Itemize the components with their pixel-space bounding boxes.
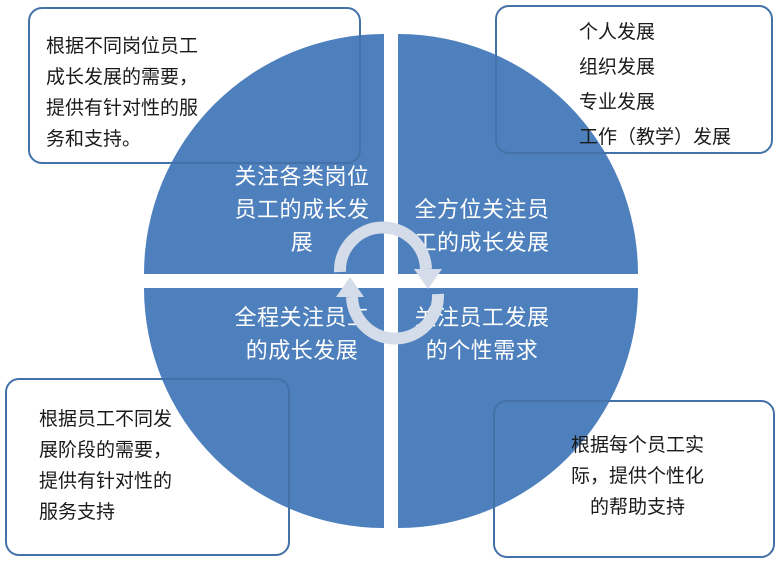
callout-bottom-left-text: 根据员工不同发 展阶段的需要， 提供有针对性的 服务支持 (39, 404, 172, 528)
callout-bottom-right[interactable]: 根据每个员工实 际，提供个性化 的帮助支持 (493, 400, 775, 558)
quadrant-top-left-label: 关注各类岗位员工的成长发展 (226, 161, 378, 260)
callout-top-right[interactable]: 个人发展 组织发展 专业发展 工作（教学）发展 (495, 5, 773, 154)
list-item: 工作（教学）发展 (579, 120, 731, 155)
diagram-canvas: 关注各类岗位员工的成长发展 全方位关注员工的成长发展 全程关注员工的成长发展 关… (0, 0, 777, 563)
list-item: 组织发展 (579, 50, 731, 85)
list-item: 个人发展 (579, 15, 731, 50)
list-item: 专业发展 (579, 85, 731, 120)
callout-bottom-right-text: 根据每个员工实 际，提供个性化 的帮助支持 (571, 430, 704, 523)
callout-top-left-text: 根据不同岗位员工 成长发展的需要， 提供有针对性的服 务和支持。 (46, 31, 198, 155)
quadrant-bottom-left-label: 全程关注员工的成长发展 (226, 302, 378, 368)
quadrant-top-right-label: 全方位关注员工的成长发展 (406, 194, 558, 260)
callout-bottom-left[interactable]: 根据员工不同发 展阶段的需要， 提供有针对性的 服务支持 (5, 378, 290, 556)
callout-top-right-list: 个人发展 组织发展 专业发展 工作（教学）发展 (579, 15, 731, 155)
quadrant-bottom-right-label: 关注员工发展的个性需求 (406, 302, 558, 368)
callout-top-left[interactable]: 根据不同岗位员工 成长发展的需要， 提供有针对性的服 务和支持。 (28, 7, 361, 164)
